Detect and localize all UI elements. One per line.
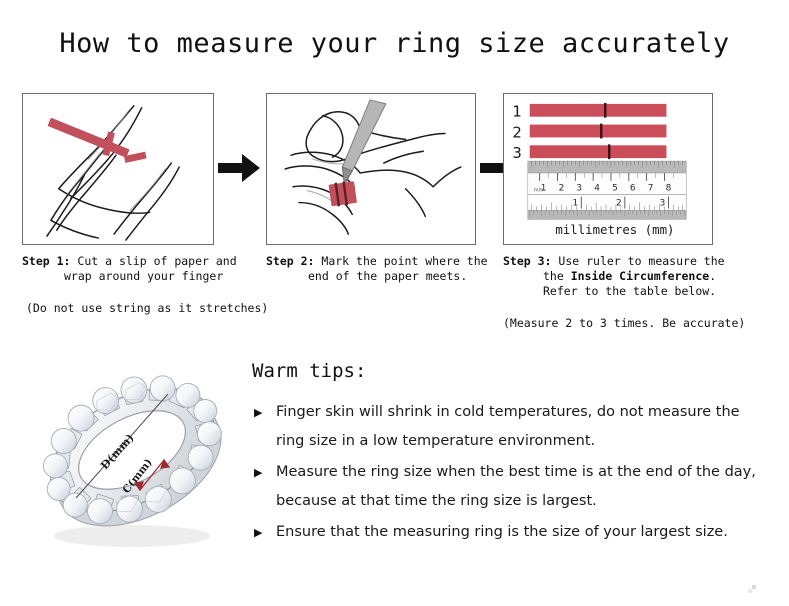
eternity-ring-icon: D(mm) C(mm) — [28, 350, 243, 565]
ruler-cm-tick-7: 7 — [648, 184, 654, 194]
step-3-label: Step 3: — [503, 254, 551, 268]
step-3-caption-line2-suffix: . — [709, 269, 716, 283]
ruler-unit-mm: mm — [534, 188, 544, 194]
step-3-caption-line3: Refer to the table below. — [503, 284, 713, 299]
step-2-label: Step 2: — [266, 254, 314, 268]
ruler-cm-tick-8: 8 — [666, 184, 672, 194]
step-1-caption: Step 1: Cut a slip of paper and wrap aro… — [22, 254, 214, 284]
corner-watermark — [748, 578, 756, 586]
step-1-note: (Do not use string as it stretches) — [22, 301, 214, 315]
step-1-illustration-panel — [22, 93, 214, 245]
warm-tip-item: ▶ Ensure that the measuring ring is the … — [252, 518, 772, 547]
step-3-illustration-panel: 1 2 3 — [503, 93, 713, 245]
step-3-caption-line1: Use ruler to measure the — [558, 254, 724, 268]
strips-over-ruler-icon: 1 2 3 — [504, 94, 712, 244]
hand-with-pen-marking-strip-icon — [267, 94, 475, 244]
page-title: How to measure your ring size accurately — [0, 28, 789, 59]
ring-size-infographic: How to measure your ring size accurately — [0, 0, 789, 606]
hand-with-paper-strip-icon — [23, 94, 213, 244]
bottom-section: D(mm) C(mm) Warm tips: ▶ Finger skin wil… — [0, 345, 789, 595]
step-3-caption-line2-prefix: the — [543, 269, 571, 283]
ruler-cm-tick-5: 5 — [612, 184, 618, 194]
warm-tip-text: Ensure that the measuring ring is the si… — [276, 518, 772, 547]
step-3-caption-line2-bold: Inside Circumference — [571, 269, 709, 283]
step-2-illustration-panel — [266, 93, 476, 245]
step-3-note: (Measure 2 to 3 times. Be accurate) — [503, 316, 713, 330]
warm-tip-text: Measure the ring size when the best time… — [276, 458, 772, 516]
ruler-shape: 1 2 3 4 5 6 7 8 mm 1 2 — [528, 161, 686, 219]
ruler-cm-tick-2: 2 — [559, 184, 565, 194]
warm-tip-item: ▶ Finger skin will shrink in cold temper… — [252, 398, 772, 456]
step-3-caption: Step 3: Use ruler to measure the the Ins… — [503, 254, 713, 299]
measured-strips-shape — [530, 103, 667, 159]
steps-row: Step 1: Cut a slip of paper and wrap aro… — [0, 93, 789, 333]
strip-label-2: 2 — [512, 124, 521, 141]
warm-tips-heading: Warm tips: — [252, 360, 772, 382]
warm-tip-text: Finger skin will shrink in cold temperat… — [276, 398, 772, 456]
step-1-label: Step 1: — [22, 254, 70, 268]
step-1-caption-line1: Cut a slip of paper and — [77, 254, 236, 268]
step-1-caption-line2: wrap around your finger — [22, 269, 214, 284]
ruler-inch-tick-1: 1 — [572, 199, 578, 209]
step-2-caption-line2: end of the paper meets. — [266, 269, 476, 284]
triangle-bullet-icon: ▶ — [254, 458, 262, 487]
arrow-right-icon — [216, 148, 262, 188]
step-1: Step 1: Cut a slip of paper and wrap aro… — [22, 93, 214, 315]
ruler-cm-tick-6: 6 — [630, 184, 636, 194]
triangle-bullet-icon: ▶ — [254, 398, 262, 427]
triangle-bullet-icon: ▶ — [254, 518, 262, 547]
ring-diagram: D(mm) C(mm) — [28, 350, 243, 565]
arrow-step1-to-step2 — [216, 148, 262, 188]
ruler-cm-tick-4: 4 — [594, 184, 600, 194]
ruler-unit-caption: millimetres (mm) — [555, 223, 674, 237]
step-2-caption: Step 2: Mark the point where the end of … — [266, 254, 476, 284]
warm-tips-block: Warm tips: ▶ Finger skin will shrink in … — [252, 360, 772, 549]
ruler-cm-tick-3: 3 — [576, 184, 582, 194]
paper-strip-shape — [48, 118, 130, 158]
strip-label-3: 3 — [512, 145, 521, 162]
strip-label-1: 1 — [512, 104, 521, 121]
step-2: Step 2: Mark the point where the end of … — [266, 93, 476, 284]
marked-paper-strip-shape — [329, 181, 357, 206]
step-3: 1 2 3 — [503, 93, 713, 330]
step-2-caption-line1: Mark the point where the — [321, 254, 487, 268]
warm-tip-item: ▶ Measure the ring size when the best ti… — [252, 458, 772, 516]
watermark-icon — [748, 585, 756, 593]
